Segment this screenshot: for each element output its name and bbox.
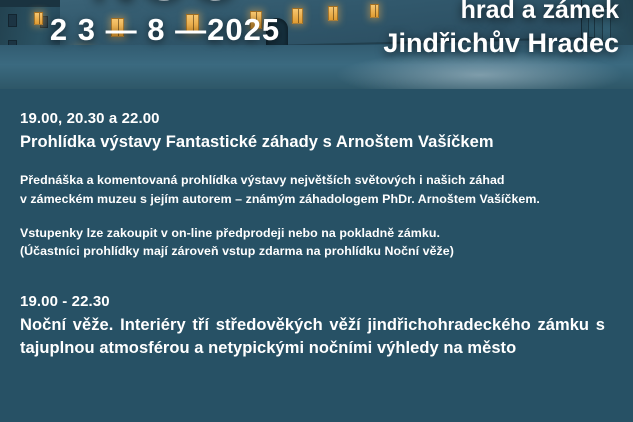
event-headline: Prohlídka výstavy Fantastické záhady s A… bbox=[20, 131, 613, 154]
hero-venue-line2: Jindřichův Hradec bbox=[319, 26, 619, 61]
ticket-info-line: (Účastníci prohlídky mají zároveň vstup … bbox=[20, 242, 613, 261]
hero-venue-line1: hrad a zámek bbox=[319, 0, 619, 26]
event-block-exhibition-tour: 19.00, 20.30 a 22.00 Prohlídka výstavy F… bbox=[20, 108, 613, 154]
event-programme-content: 19.00, 20.30 a 22.00 Prohlídka výstavy F… bbox=[0, 89, 633, 422]
hero-event-date: 2 3 — 8 —2025 bbox=[0, 14, 330, 45]
event-description-line: Přednáška a komentovaná prohlídka výstav… bbox=[20, 171, 613, 190]
event-time: 19.00 - 22.30 bbox=[20, 291, 613, 314]
event-description-line: v zámeckém muzeu s jejím autorem – známý… bbox=[20, 190, 613, 209]
ticket-info-line: Vstupenky lze zakoupit v on-line předpro… bbox=[20, 224, 613, 243]
event-block-night-towers: 19.00 - 22.30 Noční věže. Interiéry tří … bbox=[20, 291, 613, 360]
hero-title: NOC bbox=[0, 0, 330, 10]
event-headline: Noční věže. Interiéry tří středověkých v… bbox=[20, 314, 605, 361]
night-castle-illustration: NOC 2 3 — 8 —2025 hrad a zámek Jindřichů… bbox=[0, 0, 633, 89]
hero-banner: NOC 2 3 — 8 —2025 hrad a zámek Jindřichů… bbox=[0, 0, 633, 89]
hero-venue: hrad a zámek Jindřichův Hradec bbox=[319, 0, 619, 61]
event-time: 19.00, 20.30 a 22.00 bbox=[20, 108, 613, 131]
